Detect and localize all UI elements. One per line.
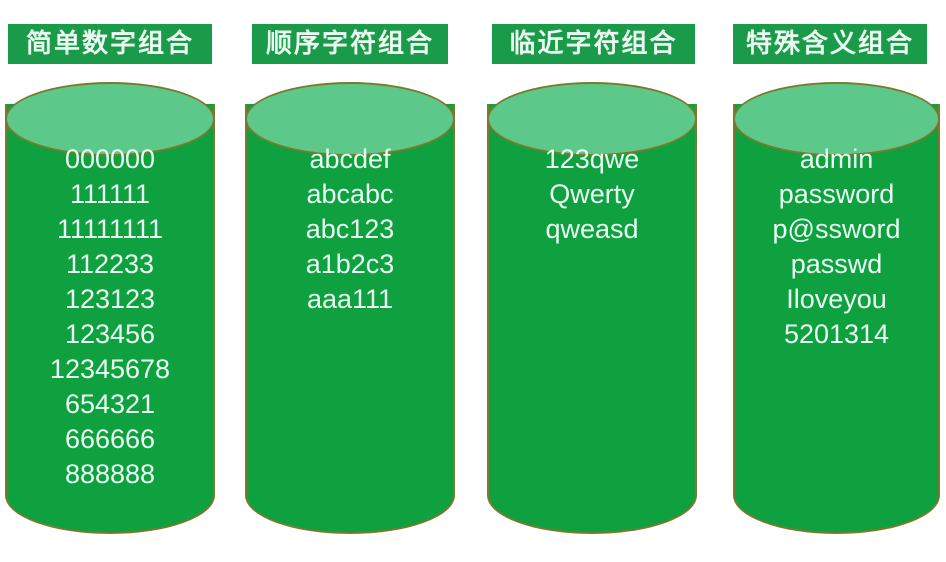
list-item: a1b2c3 <box>245 247 455 282</box>
cylinder-special-meaning: admin password p@ssword passwd Iloveyou … <box>733 82 940 534</box>
list-item: passwd <box>733 247 940 282</box>
cylinder-simple-digits: 000000 111111 11111111 112233 123123 123… <box>5 82 215 534</box>
category-header-label: 临近字符组合 <box>509 31 677 57</box>
password-list-adjacent-chars: 123qwe Qwerty qweasd <box>487 142 697 247</box>
list-item: 888888 <box>5 457 215 492</box>
password-list-special-meaning: admin password p@ssword passwd Iloveyou … <box>733 142 940 352</box>
list-item: aaa111 <box>245 282 455 317</box>
list-item: Qwerty <box>487 177 697 212</box>
category-header-label: 特殊含义组合 <box>746 31 914 57</box>
password-list-simple-digits: 000000 111111 11111111 112233 123123 123… <box>5 142 215 492</box>
list-item: abcabc <box>245 177 455 212</box>
list-item: 666666 <box>5 422 215 457</box>
category-header-adjacent-chars: 临近字符组合 <box>492 24 695 64</box>
category-header-special-meaning: 特殊含义组合 <box>733 24 927 64</box>
list-item: abc123 <box>245 212 455 247</box>
list-item: 123123 <box>5 282 215 317</box>
list-item: admin <box>733 142 940 177</box>
cylinder-adjacent-chars: 123qwe Qwerty qweasd <box>487 82 697 534</box>
category-header-sequential-chars: 顺序字符组合 <box>252 24 448 64</box>
list-item: 12345678 <box>5 352 215 387</box>
cylinder-sequential-chars: abcdef abcabc abc123 a1b2c3 aaa111 <box>245 82 455 534</box>
weak-password-categories-diagram: 简单数字组合 000000 111111 11111111 112233 123… <box>0 0 946 562</box>
list-item: qweasd <box>487 212 697 247</box>
list-item: 123456 <box>5 317 215 352</box>
list-item: abcdef <box>245 142 455 177</box>
list-item: p@ssword <box>733 212 940 247</box>
category-header-simple-digits: 简单数字组合 <box>8 24 212 64</box>
list-item: 5201314 <box>733 317 940 352</box>
password-list-sequential-chars: abcdef abcabc abc123 a1b2c3 aaa111 <box>245 142 455 317</box>
category-header-label: 简单数字组合 <box>26 31 194 57</box>
list-item: 123qwe <box>487 142 697 177</box>
list-item: 112233 <box>5 247 215 282</box>
list-item: password <box>733 177 940 212</box>
category-header-label: 顺序字符组合 <box>266 31 434 57</box>
list-item: 654321 <box>5 387 215 422</box>
list-item: Iloveyou <box>733 282 940 317</box>
list-item: 000000 <box>5 142 215 177</box>
list-item: 11111111 <box>5 212 215 247</box>
list-item: 111111 <box>5 177 215 212</box>
